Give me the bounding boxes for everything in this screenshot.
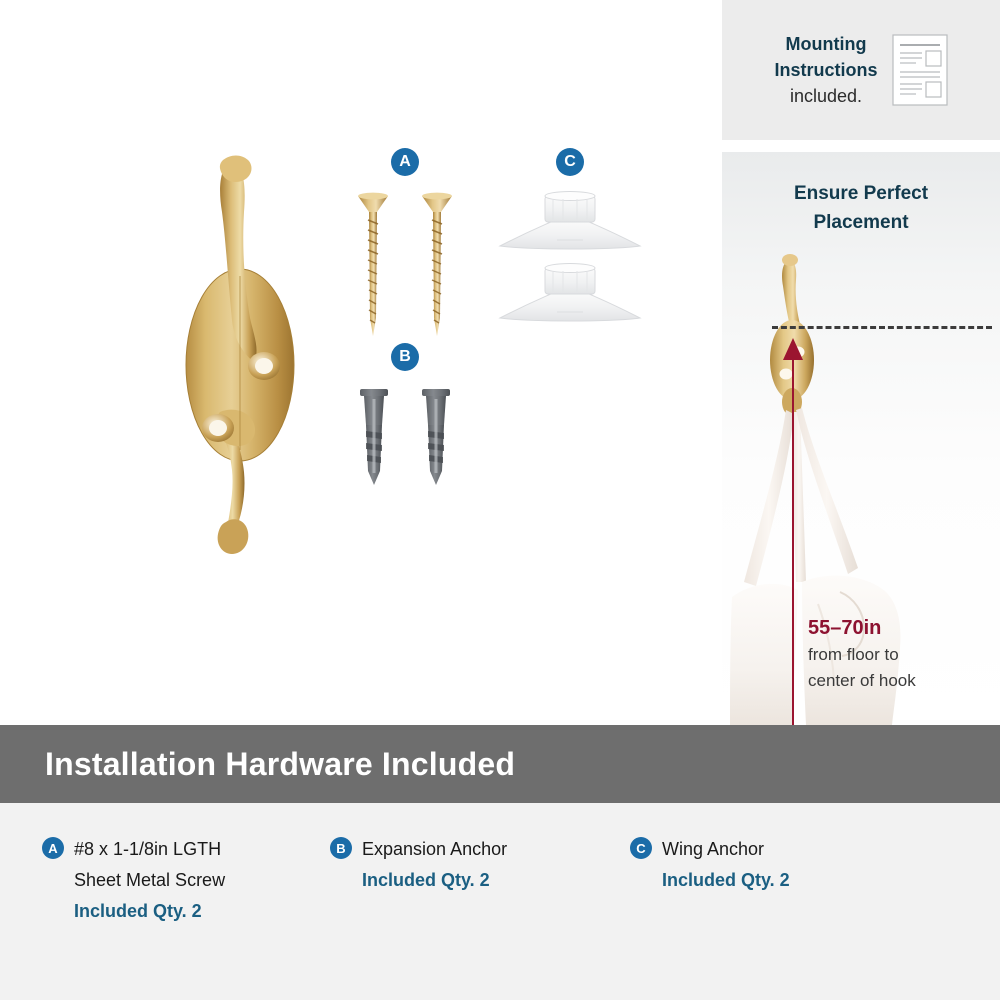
mounting-line-2: Instructions [774,57,877,83]
mounting-instructions-panel: Mounting Instructions included. [722,0,1000,140]
dashed-guide-line-icon [772,326,992,329]
hardware-legend: A #8 x 1-1/8in LGTH Sheet Metal Screw In… [0,803,1000,1000]
legend-b-name-line-1: Expansion Anchor [362,834,507,865]
banner-title: Installation Hardware Included [45,746,515,783]
legend-a-qty: Included Qty. 2 [74,896,225,927]
legend-item-b: B Expansion Anchor Included Qty. 2 [320,834,620,927]
legend-a-name-line-1: #8 x 1-1/8in LGTH [74,834,225,865]
legend-b-qty: Included Qty. 2 [362,865,507,896]
measurement-caption: 55–70in from floor to center of hook [808,614,988,695]
part-group-a: A [345,148,465,342]
expansion-anchor-icon [345,385,465,495]
legend-badge-b: B [330,837,352,859]
legend-badge-c: C [630,837,652,859]
placement-title-line-2: Placement [722,209,1000,238]
product-illustration-area: A [0,0,718,725]
legend-item-c: C Wing Anchor Included Qty. 2 [620,834,950,927]
legend-badge-a: A [42,837,64,859]
badge-c: C [556,148,584,176]
brass-double-hook-icon [168,150,318,560]
badge-b: B [391,343,419,371]
placement-title: Ensure Perfect Placement [722,180,1000,237]
up-arrow-icon [783,338,803,725]
wing-anchor-icon [495,190,645,324]
legend-item-a: A #8 x 1-1/8in LGTH Sheet Metal Screw In… [0,834,320,927]
mounting-line-1: Mounting [774,31,877,57]
placement-panel: Ensure Perfect Placement [722,152,1000,725]
badge-a: A [391,148,419,176]
legend-c-name-line-1: Wing Anchor [662,834,790,865]
measurement-note-line-1: from floor to [808,642,988,668]
document-page-icon [892,34,948,106]
placement-title-line-1: Ensure Perfect [722,180,1000,209]
legend-a-name-line-2: Sheet Metal Screw [74,865,225,896]
infographic-canvas: A [0,0,1000,1000]
mounting-instructions-text: Mounting Instructions included. [774,31,877,109]
measurement-note-line-2: center of hook [808,668,988,694]
part-group-c: C [495,148,645,324]
mounting-line-3: included. [774,83,877,109]
hardware-banner: Installation Hardware Included [0,725,1000,803]
measurement-value: 55–70in [808,614,988,642]
sheet-metal-screw-icon [345,190,465,342]
legend-c-qty: Included Qty. 2 [662,865,790,896]
arrow-stem [792,356,794,725]
part-group-b: B [345,343,465,495]
